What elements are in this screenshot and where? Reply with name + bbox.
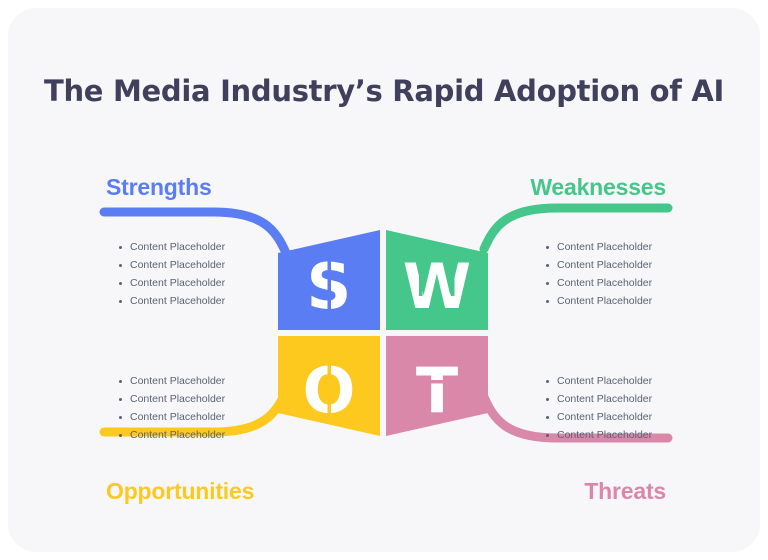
list-item: Content Placeholder [543, 426, 652, 444]
slide-card: The Media Industry’s Rapid Adoption of A… [8, 8, 760, 552]
svg-text:O: O [303, 354, 356, 427]
letter-s-glyph: S [307, 250, 352, 323]
swot-quadrant-strengths[interactable] [278, 230, 380, 330]
svg-text:T: T [416, 354, 458, 427]
list-item: Content Placeholder [116, 238, 225, 256]
bullet-list-strengths: Content Placeholder Content Placeholder … [116, 238, 225, 310]
list-item: Content Placeholder [543, 372, 652, 390]
list-item: Content Placeholder [116, 390, 225, 408]
list-item: Content Placeholder [543, 238, 652, 256]
list-item: Content Placeholder [116, 408, 225, 426]
list-item: Content Placeholder [116, 372, 225, 390]
list-item: Content Placeholder [116, 256, 225, 274]
swot-quadrant-weaknesses[interactable] [386, 230, 488, 330]
bullet-list-weaknesses: Content Placeholder Content Placeholder … [543, 238, 652, 310]
bullet-list-opportunities: Content Placeholder Content Placeholder … [116, 372, 225, 444]
quadrant-label-weaknesses: Weaknesses [530, 174, 666, 201]
letter-w-glyph: W [403, 250, 471, 323]
list-item: Content Placeholder [116, 292, 225, 310]
quadrant-label-threats: Threats [584, 478, 666, 505]
svg-text:S: S [307, 250, 352, 323]
list-item: Content Placeholder [116, 274, 225, 292]
list-item: Content Placeholder [543, 292, 652, 310]
svg-text:W: W [403, 250, 471, 323]
swot-letter-group: S W O T [303, 250, 472, 427]
bullet-list-threats: Content Placeholder Content Placeholder … [543, 372, 652, 444]
list-item: Content Placeholder [543, 408, 652, 426]
list-item: Content Placeholder [543, 390, 652, 408]
letter-o-glyph: O [303, 354, 356, 427]
swot-quadrant-opportunities[interactable] [278, 336, 380, 436]
quadrant-label-strengths: Strengths [106, 174, 212, 201]
list-item: Content Placeholder [543, 274, 652, 292]
page-title: The Media Industry’s Rapid Adoption of A… [8, 74, 760, 108]
letter-t-glyph: T [413, 354, 461, 427]
list-item: Content Placeholder [116, 426, 225, 444]
quadrant-label-opportunities: Opportunities [106, 478, 254, 505]
list-item: Content Placeholder [543, 256, 652, 274]
swot-quadrant-threats[interactable] [386, 336, 488, 436]
